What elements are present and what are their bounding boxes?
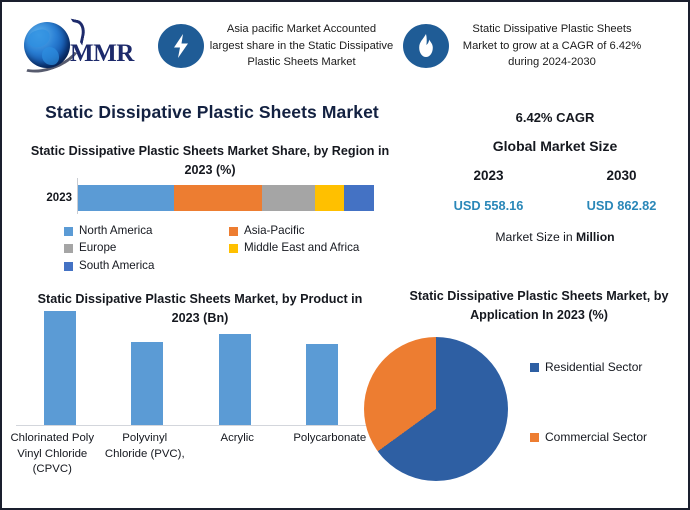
region-chart-axis-label: 2023	[22, 192, 72, 204]
region-legend-item: North America	[64, 224, 229, 238]
market-size-unit: Market Size in Million	[422, 230, 688, 244]
region-bar-segment	[344, 185, 374, 211]
product-bar	[306, 344, 338, 426]
page-title: Static Dissipative Plastic Sheets Market	[2, 102, 422, 123]
market-size-year-row: 2023 2030	[422, 168, 688, 183]
market-size-unit-value: Million	[576, 230, 615, 244]
region-bar-segment	[78, 185, 174, 211]
globe-icon	[24, 22, 70, 68]
market-size-2023-value: USD 558.16	[422, 198, 555, 213]
infographic-canvas: MMR Asia pacific Market Accounted larges…	[0, 0, 690, 510]
application-pie-chart	[364, 337, 508, 481]
product-bar	[131, 342, 163, 426]
year-2023-label: 2023	[422, 168, 555, 183]
pie-legend-label-commercial: Commercial Sector	[545, 429, 647, 446]
region-legend-item: Middle East and Africa	[229, 241, 394, 255]
pie-legend-swatch-commercial	[530, 433, 539, 442]
market-size-value-row: USD 558.16 USD 862.82	[422, 198, 688, 213]
region-chart-legend: North AmericaAsia-PacificEuropeMiddle Ea…	[64, 224, 394, 276]
global-market-size-label: Global Market Size	[422, 138, 688, 154]
product-category-label: Acrylic	[191, 431, 284, 478]
region-legend-label: Middle East and Africa	[244, 241, 359, 255]
product-bar	[219, 334, 251, 426]
region-legend-label: South America	[79, 259, 154, 273]
region-legend-swatch	[64, 244, 73, 253]
region-legend-item: Europe	[64, 241, 229, 255]
header-highlight-1-text: Asia pacific Market Accounted largest sh…	[204, 21, 399, 70]
pie-legend-swatch-residential	[530, 363, 539, 372]
product-chart-baseline	[16, 425, 366, 426]
product-category-label: Polycarbonate	[284, 431, 377, 478]
pie-legend-label-residential: Residential Sector	[545, 359, 642, 376]
region-legend-item: Asia-Pacific	[229, 224, 394, 238]
region-legend-swatch	[229, 244, 238, 253]
cagr-value: 6.42% CAGR	[422, 110, 688, 125]
region-legend-label: Europe	[79, 241, 116, 255]
header-highlight-2-text: Static Dissipative Plastic Sheets Market…	[449, 21, 655, 70]
mmr-logo: MMR	[12, 16, 152, 76]
product-bar	[44, 311, 76, 426]
region-bar-segment	[315, 185, 345, 211]
product-category-label: Chlorinated Poly Vinyl Chloride (CPVC)	[6, 431, 99, 478]
region-chart-title: Static Dissipative Plastic Sheets Market…	[30, 142, 390, 180]
product-chart-plot	[16, 302, 366, 426]
market-size-2030-value: USD 862.82	[555, 198, 688, 213]
region-legend-swatch	[64, 262, 73, 271]
pie-chart-title: Static Dissipative Plastic Sheets Market…	[394, 287, 684, 325]
region-legend-swatch	[229, 227, 238, 236]
lightning-bolt-icon	[158, 24, 204, 68]
header-bar: MMR Asia pacific Market Accounted larges…	[2, 2, 688, 90]
region-bar-segment	[174, 185, 261, 211]
region-stacked-bar	[78, 185, 374, 211]
region-legend-label: North America	[79, 224, 152, 238]
logo-text: MMR	[70, 40, 134, 68]
region-legend-item: South America	[64, 259, 229, 273]
pie-legend-item-residential: Residential Sector	[530, 359, 680, 376]
market-size-unit-prefix: Market Size in	[495, 230, 576, 244]
product-category-label: Polyvinyl Chloride (PVC),	[99, 431, 192, 478]
header-highlight-2: Static Dissipative Plastic Sheets Market…	[403, 9, 655, 83]
product-chart-category-labels: Chlorinated Poly Vinyl Chloride (CPVC)Po…	[6, 431, 376, 478]
region-legend-label: Asia-Pacific	[244, 224, 305, 238]
header-highlight-1: Asia pacific Market Accounted largest sh…	[158, 9, 399, 83]
region-bar-segment	[262, 185, 315, 211]
region-legend-swatch	[64, 227, 73, 236]
flame-icon	[403, 24, 449, 68]
pie-legend-item-commercial: Commercial Sector	[530, 429, 650, 446]
year-2030-label: 2030	[555, 168, 688, 183]
